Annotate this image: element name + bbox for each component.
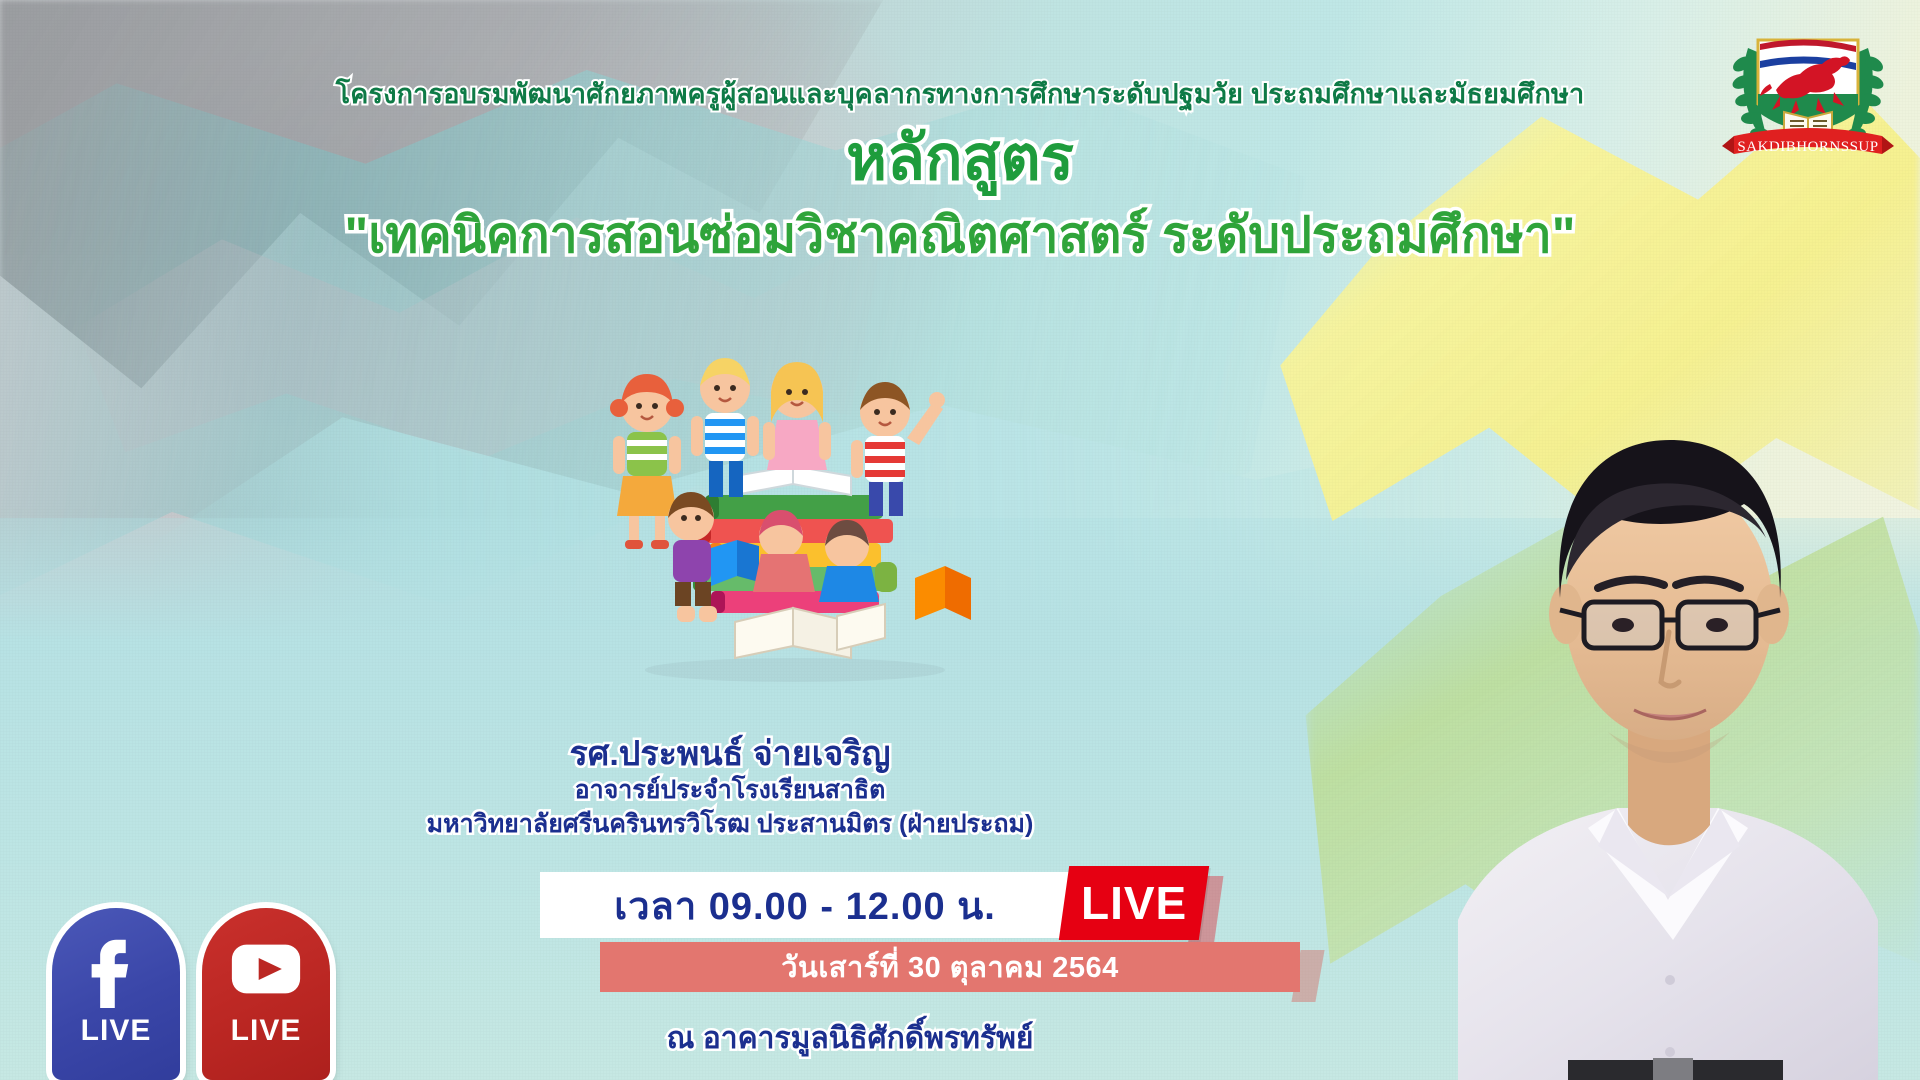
status-badge-live: LIVE — [1059, 866, 1209, 940]
kids-reading-books-illustration — [585, 340, 1005, 685]
speaker-organization: มหาวิทยาลัยศรีนครินทรวิโรฒ ประสานมิตร (ฝ… — [290, 808, 1170, 842]
event-date-band: วันเสาร์ที่ 30 ตุลาคม 2564 — [600, 942, 1300, 992]
poster-canvas: SAKDIBHORNSSUP โครงการอบรมพัฒนาศักยภาพคร… — [0, 0, 1920, 1080]
youtube-live-label: LIVE — [202, 1014, 330, 1048]
event-venue: ณ อาคารมูลนิธิศักดิ์พรทรัพย์ — [400, 1015, 1300, 1062]
youtube-play-icon — [227, 930, 305, 1008]
social-badges: LIVE LIVE — [52, 908, 330, 1080]
course-subtitle: "เทคนิคการสอนซ่อมวิชาคณิตศาสตร์ ระดับประ… — [0, 205, 1920, 265]
facebook-f-icon — [77, 930, 155, 1008]
speaker-name: รศ.ประพนธ์ จ่ายเจริญ — [290, 735, 1170, 774]
event-date: วันเสาร์ที่ 30 ตุลาคม 2564 — [781, 944, 1119, 990]
facebook-live-badge[interactable]: LIVE — [52, 908, 180, 1080]
time-plate: เวลา 09.00 - 12.00 น. — [540, 872, 1070, 938]
time-label: เวลา 09.00 - 12.00 น. — [614, 875, 996, 936]
speaker-portrait-photo — [1448, 280, 1888, 1080]
program-header-line: โครงการอบรมพัฒนาศักยภาพครูผู้สอนและบุคลา… — [0, 72, 1920, 115]
page-title: หลักสูตร — [0, 128, 1920, 190]
speaker-block: รศ.ประพนธ์ จ่ายเจริญ อาจารย์ประจำโรงเรีย… — [290, 735, 1170, 842]
facebook-live-label: LIVE — [52, 1014, 180, 1048]
youtube-live-badge[interactable]: LIVE — [202, 908, 330, 1080]
schedule-time-row: เวลา 09.00 - 12.00 น. LIVE — [540, 872, 1160, 938]
live-badge-label: LIVE — [1081, 876, 1187, 930]
speaker-role: อาจารย์ประจำโรงเรียนสาธิต — [290, 774, 1170, 808]
